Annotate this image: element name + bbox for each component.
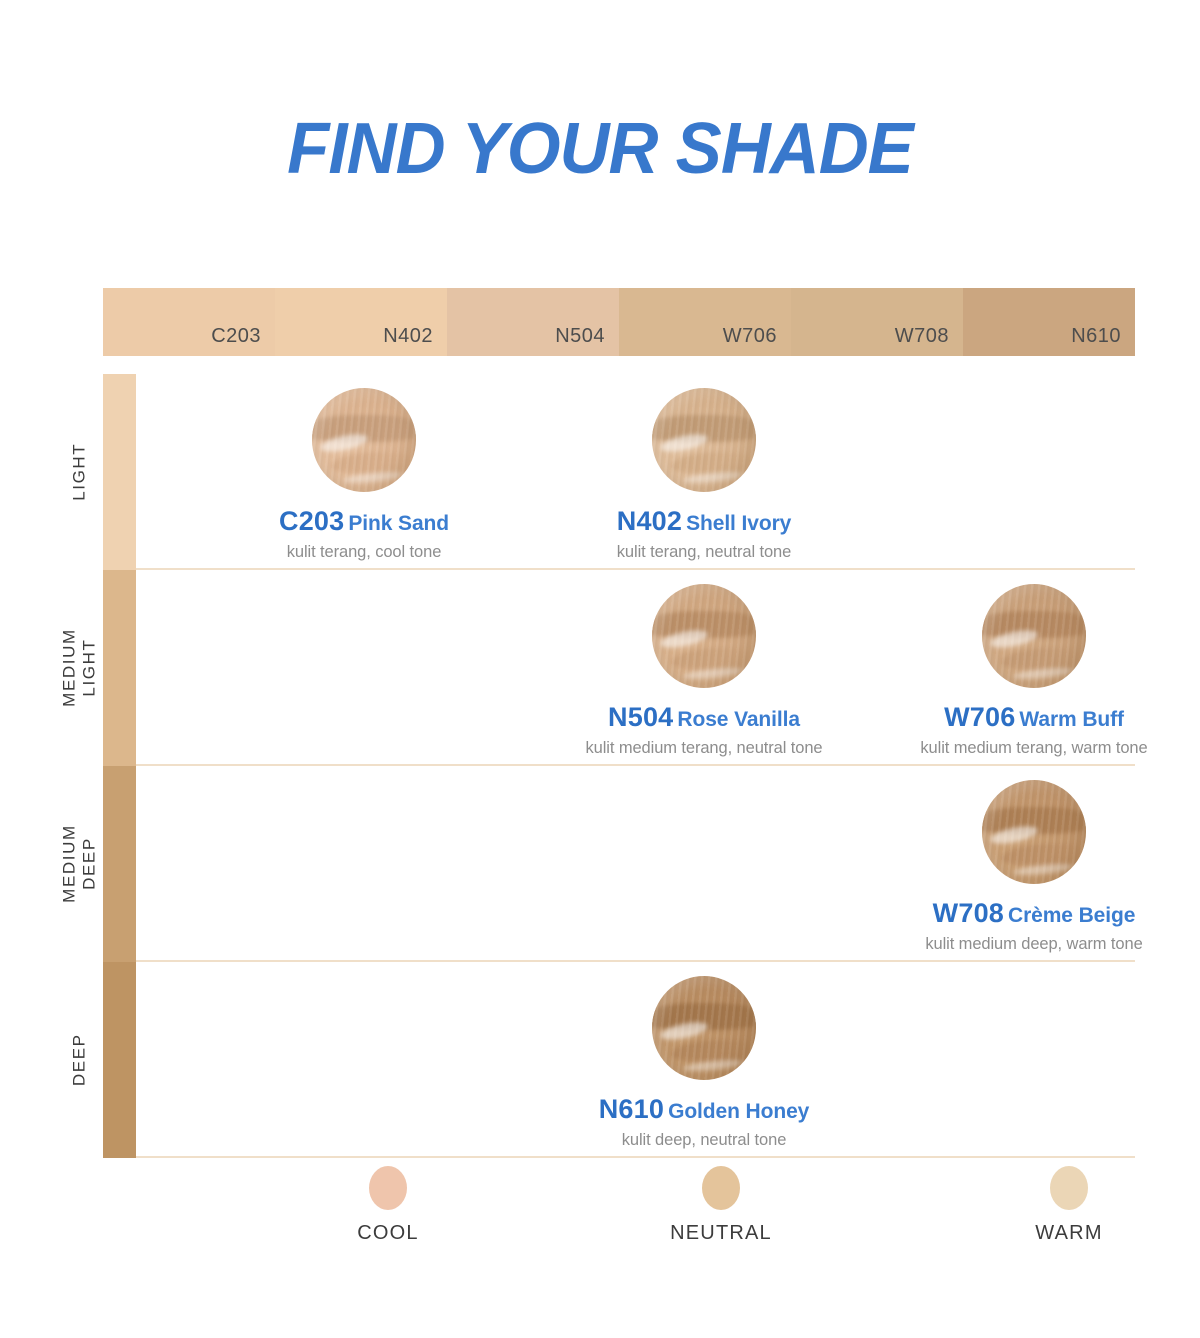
shade-name-line: W706Warm Buff [944, 702, 1124, 733]
shade-name-line: N610Golden Honey [599, 1094, 810, 1125]
blob-edge [652, 976, 756, 1080]
row-label-text: DEEP [69, 1034, 89, 1087]
shade-code: N402 [617, 506, 682, 536]
foundation-swatch-blob[interactable] [652, 388, 756, 492]
row-label-light: LIGHT [58, 374, 100, 570]
shade-description: kulit medium deep, warm tone [925, 935, 1142, 954]
blob-edge [982, 780, 1086, 884]
row-label-line: LIGHT [79, 629, 99, 708]
shade-name-line: C203Pink Sand [279, 506, 449, 537]
shade-row: C203Pink Sandkulit terang, cool toneN402… [136, 374, 1135, 570]
shade-name: Golden Honey [668, 1100, 809, 1123]
shade-description: kulit medium terang, neutral tone [586, 739, 823, 758]
foundation-swatch-blob[interactable] [652, 976, 756, 1080]
band-segment-n402[interactable]: N402 [275, 288, 447, 356]
legend-label: COOL [357, 1222, 418, 1245]
shade-finder-page: FIND YOUR SHADE C203N402N504W706W708N610… [0, 0, 1200, 1338]
shade-row: N504Rose Vanillakulit medium terang, neu… [136, 570, 1135, 766]
undertone-legend: COOLNEUTRALWARM [103, 1166, 1135, 1276]
band-segment-label: W708 [895, 325, 949, 348]
row-label-text: MEDIUMLIGHT [59, 629, 98, 708]
shade-description: kulit medium terang, warm tone [920, 739, 1147, 758]
row-label-medium-light: MEDIUMLIGHT [58, 570, 100, 766]
shade-description: kulit terang, neutral tone [617, 543, 791, 562]
legend-item-neutral[interactable]: NEUTRAL [641, 1166, 801, 1245]
row-label-line: MEDIUM [59, 629, 79, 708]
row-label-text: LIGHT [69, 443, 89, 501]
band-segment-c203[interactable]: C203 [103, 288, 275, 356]
row-label-medium-deep: MEDIUMDEEP [58, 766, 100, 962]
legend-item-warm[interactable]: WARM [989, 1166, 1149, 1245]
foundation-swatch-blob[interactable] [982, 780, 1086, 884]
foundation-swatch-blob[interactable] [652, 584, 756, 688]
band-segment-label: N610 [1071, 325, 1121, 348]
legend-dot-warm [1050, 1166, 1088, 1210]
blob-edge [652, 584, 756, 688]
shade-code: W708 [933, 898, 1004, 928]
band-segment-n610[interactable]: N610 [963, 288, 1135, 356]
shade-name-line: N402Shell Ivory [617, 506, 791, 537]
band-segment-label: C203 [211, 325, 261, 348]
blob-edge [652, 388, 756, 492]
shade-rows: C203Pink Sandkulit terang, cool toneN402… [136, 374, 1135, 1158]
shade-grid: C203Pink Sandkulit terang, cool toneN402… [103, 374, 1135, 1158]
legend-label: NEUTRAL [670, 1222, 772, 1245]
band-segment-label: N402 [383, 325, 433, 348]
shade-name: Pink Sand [348, 512, 449, 535]
foundation-swatch-blob[interactable] [312, 388, 416, 492]
shade-row: W708Crème Beigekulit medium deep, warm t… [136, 766, 1135, 962]
shade-code: W706 [944, 702, 1015, 732]
band-segment-label: W706 [723, 325, 777, 348]
page-title: FIND YOUR SHADE [24, 108, 1176, 190]
shade-row: N610Golden Honeykulit deep, neutral tone [136, 962, 1135, 1158]
depth-segment-medium-light [103, 570, 136, 766]
row-label-deep: DEEP [58, 962, 100, 1158]
shade-code: N610 [599, 1094, 664, 1124]
band-segment-label: N504 [555, 325, 605, 348]
depth-segment-deep [103, 962, 136, 1158]
legend-item-cool[interactable]: COOL [308, 1166, 468, 1245]
shade-name: Warm Buff [1019, 708, 1123, 731]
shade-band: C203N402N504W706W708N610 [103, 288, 1135, 356]
depth-segment-medium-deep [103, 766, 136, 962]
shade-card-n610[interactable]: N610Golden Honeykulit deep, neutral tone [554, 962, 854, 1156]
band-segment-n504[interactable]: N504 [447, 288, 619, 356]
blob-edge [312, 388, 416, 492]
legend-dot-cool [369, 1166, 407, 1210]
shade-card-n402[interactable]: N402Shell Ivorykulit terang, neutral ton… [554, 374, 854, 568]
shade-code: C203 [279, 506, 344, 536]
row-label-line: DEEP [69, 1034, 89, 1087]
row-label-line: LIGHT [69, 443, 89, 501]
legend-dot-neutral [702, 1166, 740, 1210]
depth-segment-light [103, 374, 136, 570]
shade-name: Shell Ivory [686, 512, 791, 535]
row-label-text: MEDIUMDEEP [59, 825, 98, 904]
foundation-swatch-blob[interactable] [982, 584, 1086, 688]
shade-code: N504 [608, 702, 673, 732]
blob-edge [982, 584, 1086, 688]
shade-description: kulit deep, neutral tone [622, 1131, 787, 1150]
band-segment-w708[interactable]: W708 [791, 288, 963, 356]
shade-name: Crème Beige [1008, 904, 1135, 927]
row-label-line: MEDIUM [59, 825, 79, 904]
depth-row-labels: LIGHTMEDIUMLIGHTMEDIUMDEEPDEEP [58, 374, 100, 1158]
shade-card-w706[interactable]: W706Warm Buffkulit medium terang, warm t… [884, 570, 1184, 764]
shade-description: kulit terang, cool tone [287, 543, 442, 562]
row-label-line: DEEP [79, 825, 99, 904]
band-segment-w706[interactable]: W706 [619, 288, 791, 356]
shade-name: Rose Vanilla [677, 708, 800, 731]
shade-card-c203[interactable]: C203Pink Sandkulit terang, cool tone [214, 374, 514, 568]
shade-card-n504[interactable]: N504Rose Vanillakulit medium terang, neu… [554, 570, 854, 764]
shade-name-line: W708Crème Beige [933, 898, 1136, 929]
shade-card-w708[interactable]: W708Crème Beigekulit medium deep, warm t… [884, 766, 1184, 960]
legend-label: WARM [1035, 1222, 1102, 1245]
depth-gradient-bar [103, 374, 136, 1158]
shade-name-line: N504Rose Vanilla [608, 702, 800, 733]
